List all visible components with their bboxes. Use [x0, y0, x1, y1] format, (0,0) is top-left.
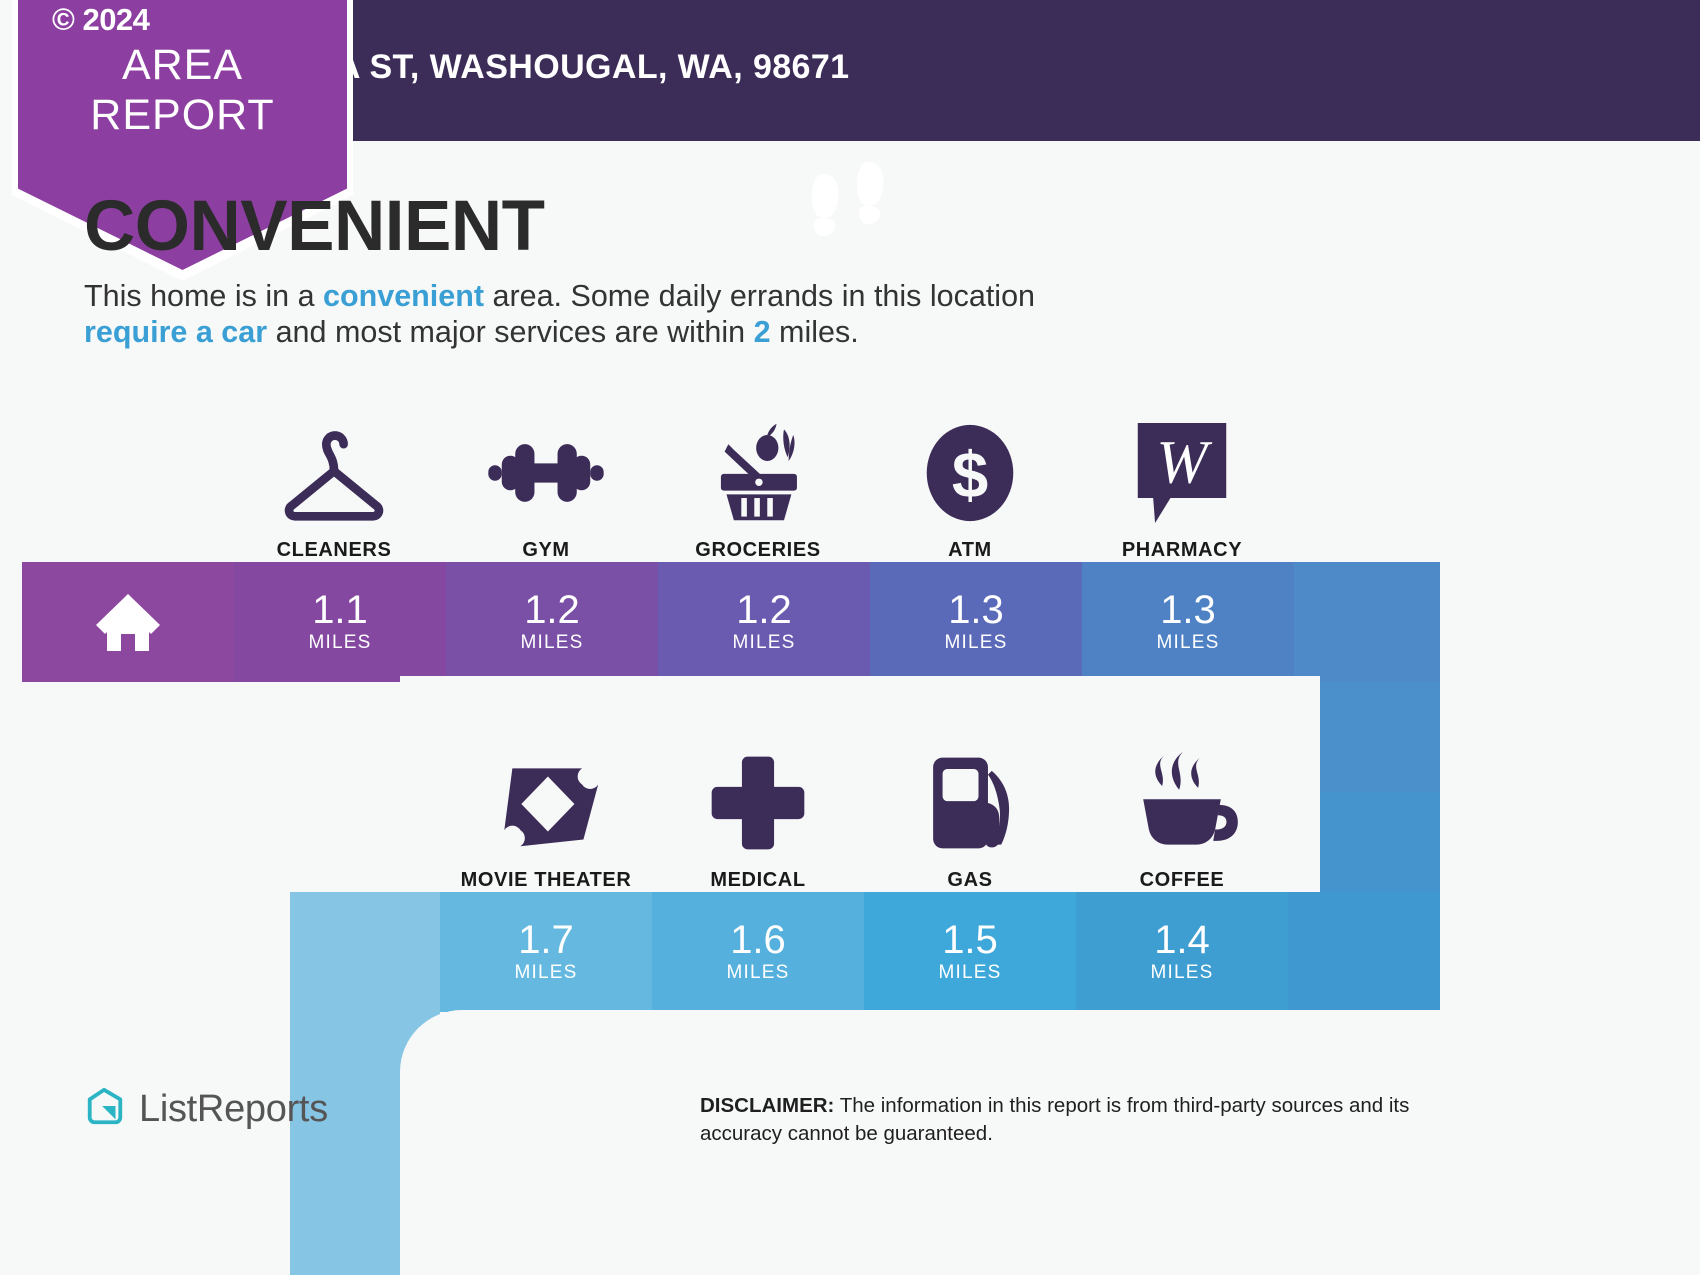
- amenity-coffee: COFFEE: [1076, 722, 1288, 892]
- subtitle-part-4: miles.: [771, 315, 859, 349]
- distance-value: 1.2: [524, 589, 580, 631]
- amenity-label: GYM: [522, 539, 569, 562]
- dollar-circle-icon: $: [920, 419, 1020, 527]
- disclaimer-label: DISCLAIMER:: [700, 1094, 834, 1117]
- amenity-pharmacy: WPHARMACY: [1076, 404, 1288, 562]
- amenity-medical: MEDICAL: [652, 722, 864, 892]
- amenity-label: MOVIE THEATER: [461, 869, 632, 892]
- distance-row-1: 1.1MILES1.2MILES1.2MILES1.3MILES1.3MILES: [22, 562, 1440, 682]
- basket-icon: [702, 419, 814, 527]
- subtitle-highlight-3: 2: [754, 315, 771, 349]
- band-tail-right-top: [1294, 562, 1440, 682]
- amenity-gym: GYM: [440, 404, 652, 562]
- footprints-icon: [804, 160, 896, 250]
- page-subtitle: This home is in a convenient area. Some …: [84, 278, 1094, 350]
- distance-cell-atm: 1.3MILES: [870, 562, 1082, 682]
- amenity-icons-row-1: CLEANERSGYMGROCERIES$ATMWPHARMACY: [228, 404, 1440, 562]
- distance-value: 1.3: [948, 589, 1004, 631]
- subtitle-part-3: and most major services are within: [267, 315, 753, 349]
- distance-cell-gas: 1.5MILES: [864, 892, 1076, 1012]
- distance-value: 1.1: [312, 589, 368, 631]
- amenity-atm: $ATM: [864, 404, 1076, 562]
- medical-cross-icon: [706, 749, 810, 857]
- distance-cell-movie-theater: 1.7MILES: [440, 892, 652, 1012]
- amenity-label: GAS: [947, 869, 992, 892]
- amenity-icons-row-2: MOVIE THEATERMEDICALGASCOFFEE: [440, 722, 1440, 892]
- amenity-label: MEDICAL: [710, 869, 805, 892]
- listreports-logo[interactable]: ListReports: [84, 1086, 328, 1133]
- dumbbell-icon: [482, 419, 610, 527]
- amenity-label: GROCERIES: [695, 539, 820, 562]
- distance-cell-cleaners: 1.1MILES: [234, 562, 446, 682]
- distance-value: 1.3: [1160, 589, 1216, 631]
- amenity-groceries: GROCERIES: [652, 404, 864, 562]
- distance-value: 1.2: [736, 589, 792, 631]
- amenity-label: COFFEE: [1140, 869, 1225, 892]
- svg-text:$: $: [952, 438, 988, 511]
- listreports-logo-text: ListReports: [139, 1088, 328, 1131]
- distance-unit: MILES: [514, 961, 577, 985]
- subtitle-part-2: area. Some daily errands in this locatio…: [484, 279, 1035, 313]
- copyright-label: © 2024: [52, 2, 149, 38]
- distance-cell-groceries: 1.2MILES: [658, 562, 870, 682]
- distance-value: 1.7: [518, 919, 574, 961]
- coffee-cup-icon: [1126, 749, 1238, 857]
- band-tail-right-bottom: [1288, 892, 1440, 1012]
- svg-text:W: W: [1156, 429, 1212, 497]
- distance-unit: MILES: [1150, 961, 1213, 985]
- badge-line-1: AREA: [0, 40, 365, 90]
- subtitle-highlight-1: convenient: [323, 279, 484, 313]
- band-tail-left-bottom: [290, 892, 440, 1012]
- gas-pump-icon: [918, 749, 1022, 857]
- ticket-icon: [491, 749, 601, 857]
- distance-unit: MILES: [308, 631, 371, 655]
- hanger-icon: [276, 419, 392, 527]
- distance-cell-coffee: 1.4MILES: [1076, 892, 1288, 1012]
- area-report-page: © 2024 410 W KOA ST, WASHOUGAL, WA, 9867…: [0, 0, 1700, 1275]
- amenity-movie-theater: MOVIE THEATER: [440, 722, 652, 892]
- distance-unit: MILES: [944, 631, 1007, 655]
- listreports-house-icon: [84, 1086, 126, 1133]
- amenity-label: PHARMACY: [1122, 539, 1242, 562]
- badge-title: AREA REPORT: [0, 40, 365, 140]
- walgreens-w-icon: W: [1132, 419, 1232, 527]
- subtitle-highlight-2: require a car: [84, 315, 267, 349]
- distance-unit: MILES: [726, 961, 789, 985]
- amenity-label: ATM: [948, 539, 992, 562]
- distance-value: 1.5: [942, 919, 998, 961]
- amenity-gas: GAS: [864, 722, 1076, 892]
- distance-cell-medical: 1.6MILES: [652, 892, 864, 1012]
- distance-unit: MILES: [732, 631, 795, 655]
- distance-cell-pharmacy: 1.3MILES: [1082, 562, 1294, 682]
- page-title: CONVENIENT: [84, 186, 545, 267]
- distance-unit: MILES: [938, 961, 1001, 985]
- distance-row-2: 1.7MILES1.6MILES1.5MILES1.4MILES: [290, 892, 1440, 1012]
- home-cell: [22, 562, 234, 682]
- distance-value: 1.4: [1154, 919, 1210, 961]
- distance-unit: MILES: [520, 631, 583, 655]
- home-icon: [93, 591, 163, 653]
- distance-cell-gym: 1.2MILES: [446, 562, 658, 682]
- amenity-label: CLEANERS: [277, 539, 392, 562]
- subtitle-part-1: This home is in a: [84, 279, 323, 313]
- distance-unit: MILES: [1156, 631, 1219, 655]
- amenity-cleaners: CLEANERS: [228, 404, 440, 562]
- distance-value: 1.6: [730, 919, 786, 961]
- disclaimer: DISCLAIMER: The information in this repo…: [700, 1092, 1490, 1148]
- badge-line-2: REPORT: [0, 90, 365, 140]
